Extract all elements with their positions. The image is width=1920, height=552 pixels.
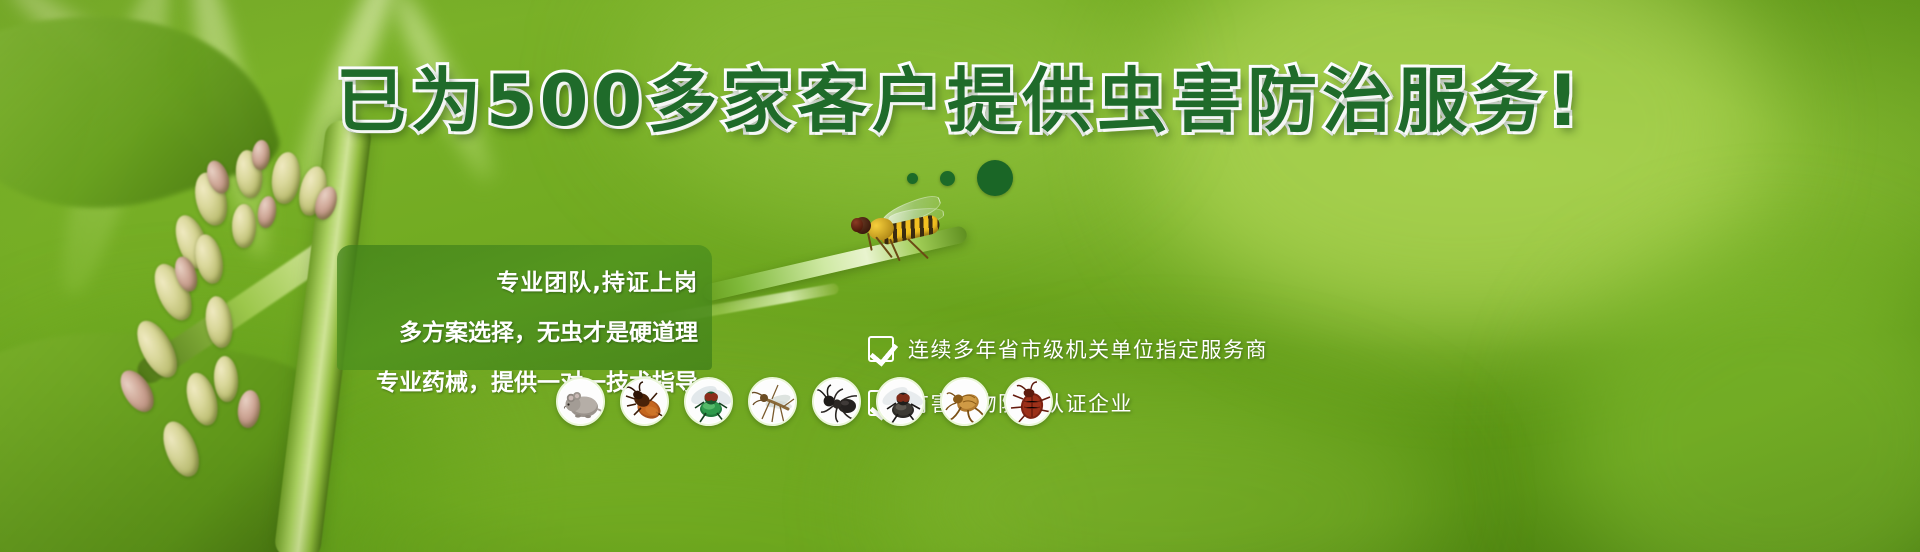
mosquito-icon [748,377,797,426]
insect-eye [851,218,863,232]
greenbottle-fly-icon [684,377,733,426]
list-item: 连续多年省市级机关单位指定服务商 [868,334,1268,364]
cockroach-icon [620,377,669,426]
dot-medium-icon [940,171,955,186]
dot-small-icon [907,173,918,184]
checkbox-checked-icon [868,336,894,362]
bedbug-icon [1004,377,1053,426]
promotional-banner: 已为500多家客户提供虫害防治服务! 专业团队,持证上岗 多方案选择，无虫才是硬… [0,0,1920,552]
pest-icon-row [556,377,1053,426]
decorative-dots [0,160,1920,196]
banner-headline-text: 已为500多家客户提供虫害防治服务! [336,60,1584,142]
ant-icon [812,377,861,426]
housefly-icon [876,377,925,426]
certification-label: 连续多年省市级机关单位指定服务商 [908,334,1268,364]
mouse-icon [556,377,605,426]
selling-point-1: 专业团队,持证上岗 [337,263,698,297]
selling-points-panel: 专业团队,持证上岗 多方案选择，无虫才是硬道理 专业药械，提供一对一技术指导 [337,245,712,370]
hoverfly-insect [846,198,966,258]
banner-headline: 已为500多家客户提供虫害防治服务! [0,66,1920,136]
selling-point-2: 多方案选择，无虫才是硬道理 [337,313,698,347]
dot-large-icon [977,160,1013,196]
flea-icon [940,377,989,426]
